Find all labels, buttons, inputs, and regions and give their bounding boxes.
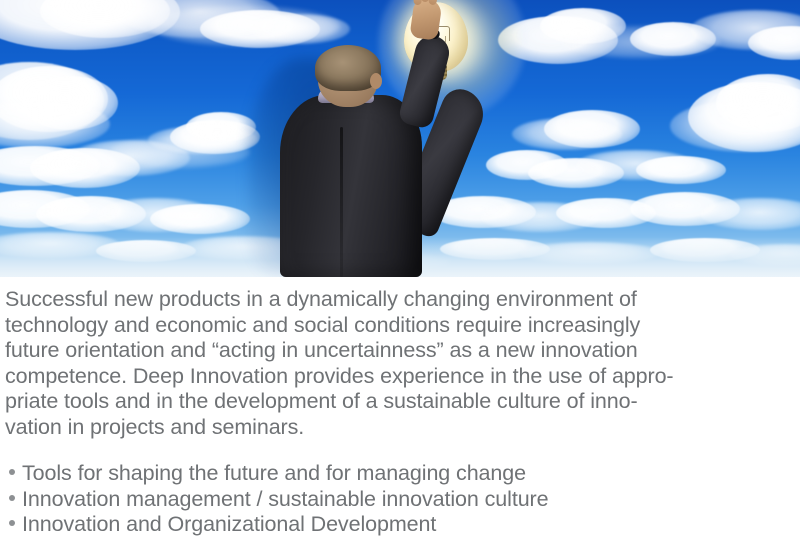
hero-image — [0, 0, 800, 277]
bullet-dot-icon — [9, 469, 15, 475]
ear — [370, 73, 382, 89]
list-item: Innovation and Organizational Developmen… — [5, 512, 794, 538]
text-content-area: Successful new products in a dynamically… — [0, 277, 800, 538]
feature-bullet-list: Tools for shaping the future and for man… — [5, 461, 794, 538]
list-item-label: Tools for shaping the future and for man… — [22, 461, 526, 487]
suit-torso — [280, 95, 422, 277]
list-item: Innovation management / sustainable inno… — [5, 487, 794, 513]
suit-center-seam — [340, 127, 343, 277]
businessman-figure — [262, 47, 494, 277]
page-root: Successful new products in a dynamically… — [0, 0, 800, 560]
bullet-dot-icon — [9, 495, 15, 501]
list-item-label: Innovation management / sustainable inno… — [22, 487, 548, 513]
list-item-label: Innovation and Organizational Developmen… — [22, 512, 436, 538]
list-item: Tools for shaping the future and for man… — [5, 461, 794, 487]
bullet-dot-icon — [9, 520, 15, 526]
body-paragraph: Successful new products in a dynamically… — [5, 287, 794, 440]
